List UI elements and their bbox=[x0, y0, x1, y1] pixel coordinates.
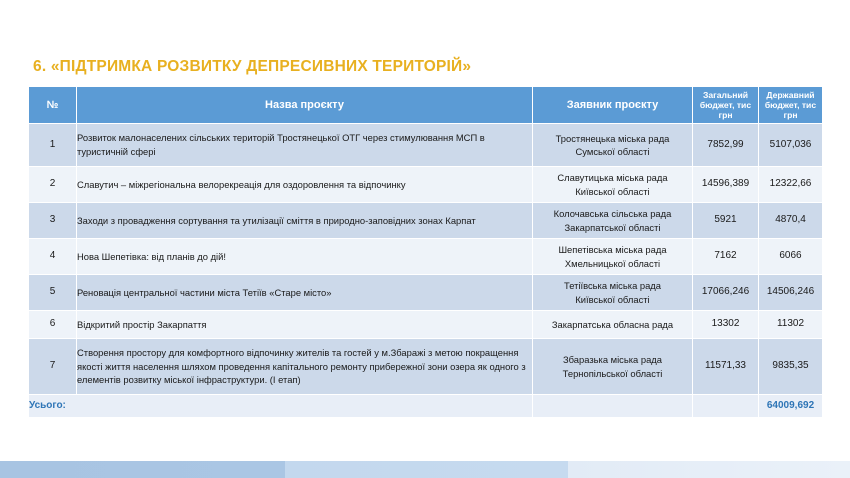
cell-applicant: Збаразька міська рада Тернопільської обл… bbox=[533, 339, 693, 395]
cell-applicant: Колочавська сільська рада Закарпатської … bbox=[533, 203, 693, 239]
applicant-line-1: Тетіївська міська рада bbox=[564, 280, 661, 291]
table-total-row: Усього: 64009,692 bbox=[29, 395, 823, 418]
cell-project-name: Славутич – міжрегіональна велорекреація … bbox=[77, 167, 533, 203]
table-header-row: № Назва проєкту Заявник проєкту Загальни… bbox=[29, 87, 823, 124]
column-header-number: № bbox=[29, 87, 77, 124]
cell-project-name: Нова Шепетівка: від планів до дій! bbox=[77, 239, 533, 275]
cell-project-name: Створення простору для комфортного відпо… bbox=[77, 339, 533, 395]
cell-number: 7 bbox=[29, 339, 77, 395]
column-header-project-name: Назва проєкту bbox=[77, 87, 533, 124]
total-empty-budget bbox=[693, 395, 759, 418]
cell-number: 2 bbox=[29, 167, 77, 203]
cell-total-budget: 7852,99 bbox=[693, 124, 759, 167]
cell-total-budget: 14596,389 bbox=[693, 167, 759, 203]
cell-number: 6 bbox=[29, 311, 77, 339]
cell-applicant: Славутицька міська рада Київської област… bbox=[533, 167, 693, 203]
applicant-line-1: Шепетівська міська рада bbox=[558, 244, 666, 255]
cell-project-name: Реновація центральної частини міста Теті… bbox=[77, 275, 533, 311]
cell-project-name: Розвиток малонаселених сільських територ… bbox=[77, 124, 533, 167]
projects-table-container: № Назва проєкту Заявник проєкту Загальни… bbox=[28, 86, 822, 418]
page-title: 6. «ПІДТРИМКА РОЗВИТКУ ДЕПРЕСИВНИХ ТЕРИТ… bbox=[33, 58, 471, 76]
applicant-line-1: Збаразька міська рада bbox=[563, 354, 662, 365]
bottom-decorative-bar bbox=[0, 461, 850, 478]
cell-applicant: Шепетівська міська рада Хмельницької обл… bbox=[533, 239, 693, 275]
column-header-applicant: Заявник проєкту bbox=[533, 87, 693, 124]
applicant-line-2: Київської області bbox=[575, 294, 649, 305]
total-label: Усього: bbox=[29, 395, 533, 418]
table-row: 2 Славутич – міжрегіональна велорекреаці… bbox=[29, 167, 823, 203]
bar-segment-2 bbox=[285, 461, 568, 478]
applicant-line-2: Закарпатської області bbox=[565, 222, 661, 233]
cell-state-budget: 4870,4 bbox=[759, 203, 823, 239]
table-row: 4 Нова Шепетівка: від планів до дій! Шеп… bbox=[29, 239, 823, 275]
table-row: 6 Відкритий простір Закарпаття Закарпатс… bbox=[29, 311, 823, 339]
cell-state-budget: 9835,35 bbox=[759, 339, 823, 395]
applicant-line-1: Закарпатська обласна рада bbox=[552, 319, 673, 330]
cell-applicant: Тетіївська міська рада Київської області bbox=[533, 275, 693, 311]
cell-number: 3 bbox=[29, 203, 77, 239]
cell-total-budget: 17066,246 bbox=[693, 275, 759, 311]
cell-number: 5 bbox=[29, 275, 77, 311]
cell-state-budget: 11302 bbox=[759, 311, 823, 339]
cell-applicant: Тростянецька міська рада Сумської област… bbox=[533, 124, 693, 167]
cell-project-name: Заходи з провадження сортування та утилі… bbox=[77, 203, 533, 239]
projects-table: № Назва проєкту Заявник проєкту Загальни… bbox=[28, 86, 823, 418]
cell-number: 1 bbox=[29, 124, 77, 167]
table-row: 5 Реновація центральної частини міста Те… bbox=[29, 275, 823, 311]
total-empty-applicant bbox=[533, 395, 693, 418]
cell-state-budget: 5107,036 bbox=[759, 124, 823, 167]
cell-state-budget: 14506,246 bbox=[759, 275, 823, 311]
cell-number: 4 bbox=[29, 239, 77, 275]
cell-total-budget: 13302 bbox=[693, 311, 759, 339]
applicant-line-2: Київської області bbox=[575, 186, 649, 197]
slide: 6. «ПІДТРИМКА РОЗВИТКУ ДЕПРЕСИВНИХ ТЕРИТ… bbox=[0, 0, 850, 478]
column-header-total-budget: Загальний бюджет, тис грн bbox=[693, 87, 759, 124]
applicant-line-2: Хмельницької області bbox=[565, 258, 660, 269]
table-row: 7 Створення простору для комфортного від… bbox=[29, 339, 823, 395]
bar-segment-3 bbox=[568, 461, 850, 478]
applicant-line-1: Славутицька міська рада bbox=[557, 172, 667, 183]
cell-total-budget: 7162 bbox=[693, 239, 759, 275]
table-row: 3 Заходи з провадження сортування та ути… bbox=[29, 203, 823, 239]
total-value: 64009,692 bbox=[759, 395, 823, 418]
cell-total-budget: 5921 bbox=[693, 203, 759, 239]
cell-state-budget: 6066 bbox=[759, 239, 823, 275]
cell-state-budget: 12322,66 bbox=[759, 167, 823, 203]
table-header: № Назва проєкту Заявник проєкту Загальни… bbox=[29, 87, 823, 124]
cell-project-name: Відкритий простір Закарпаття bbox=[77, 311, 533, 339]
applicant-line-1: Колочавська сільська рада bbox=[554, 208, 672, 219]
column-header-state-budget: Державний бюджет, тис грн bbox=[759, 87, 823, 124]
bar-segment-1 bbox=[0, 461, 285, 478]
cell-total-budget: 11571,33 bbox=[693, 339, 759, 395]
applicant-line-2: Сумської області bbox=[576, 146, 650, 157]
cell-applicant: Закарпатська обласна рада bbox=[533, 311, 693, 339]
applicant-line-1: Тростянецька міська рада bbox=[556, 133, 670, 144]
applicant-line-2: Тернопільської області bbox=[563, 368, 663, 379]
table-body: 1 Розвиток малонаселених сільських терит… bbox=[29, 124, 823, 418]
table-row: 1 Розвиток малонаселених сільських терит… bbox=[29, 124, 823, 167]
